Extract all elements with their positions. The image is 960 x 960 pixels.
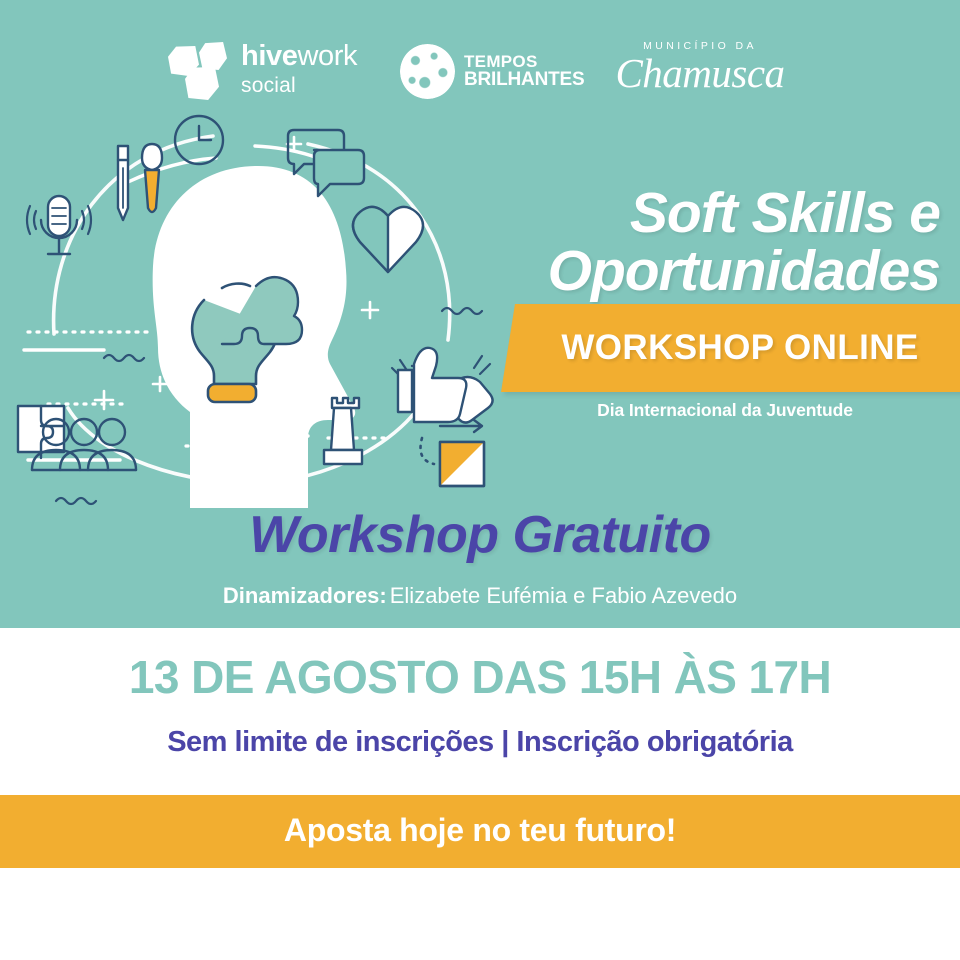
logo-tempos-brilhantes: TEMPOS BRILHANTES	[400, 44, 584, 99]
hive-logo-light: work	[297, 40, 357, 72]
microphone-icon	[27, 196, 91, 254]
hosts-line: Dinamizadores:Elizabete Eufémia e Fabio …	[0, 583, 960, 609]
headline-subtitle: Dia Internacional da Juventude	[500, 400, 950, 421]
thumbs-up-icon	[398, 348, 466, 422]
pencil-icon	[118, 146, 128, 220]
headline-block: Soft Skills e Oportunidades	[500, 186, 950, 300]
headline-line2: Oportunidades	[500, 244, 940, 300]
chamusca-wordmark: Chamusca	[600, 53, 800, 94]
workshop-online-label: WORKSHOP ONLINE	[520, 318, 960, 378]
cta-text: Aposta hoje no teu futuro!	[0, 812, 960, 849]
workshop-gratuito-title: Workshop Gratuito	[0, 505, 960, 565]
circular-doodle-mark-icon	[400, 44, 455, 99]
partner-logo-row: hivework social TEMPOS BRILHANTES MUNICÍ…	[0, 18, 960, 98]
hero-section: hivework social TEMPOS BRILHANTES MUNICÍ…	[0, 0, 960, 628]
paintbrush-icon	[142, 144, 162, 212]
logo-municipio-chamusca: MUNICÍPIO DA Chamusca	[600, 40, 800, 94]
funding-footer: Cofinanciamento: Portugal INOVAÇÃO SOCIA…	[0, 868, 960, 960]
hosts-names: Elizabete Eufémia e Fabio Azevedo	[390, 583, 737, 608]
heart-icon	[353, 207, 423, 272]
poster: hivework social TEMPOS BRILHANTES MUNICÍ…	[0, 0, 960, 960]
tempos-line1: TEMPOS	[464, 53, 584, 70]
logo-hive-work-social: hivework social	[168, 42, 357, 100]
arrow-square-icon	[421, 420, 485, 486]
event-date-time: 13 DE AGOSTO DAS 15H ÀS 17H	[0, 650, 960, 704]
squiggle-icon	[104, 355, 144, 361]
head-illustration	[8, 108, 508, 508]
headline-line1: Soft Skills e	[630, 181, 940, 245]
hexagon-cluster-icon	[168, 42, 232, 100]
registration-note: Sem limite de inscrições | Inscrição obr…	[0, 726, 960, 759]
clock-icon	[175, 116, 223, 164]
tempos-line2: BRILHANTES	[464, 70, 584, 89]
hive-logo-bold: hive	[241, 40, 297, 72]
hive-logo-sub: social	[241, 75, 357, 96]
hosts-label: Dinamizadores:	[223, 583, 387, 608]
